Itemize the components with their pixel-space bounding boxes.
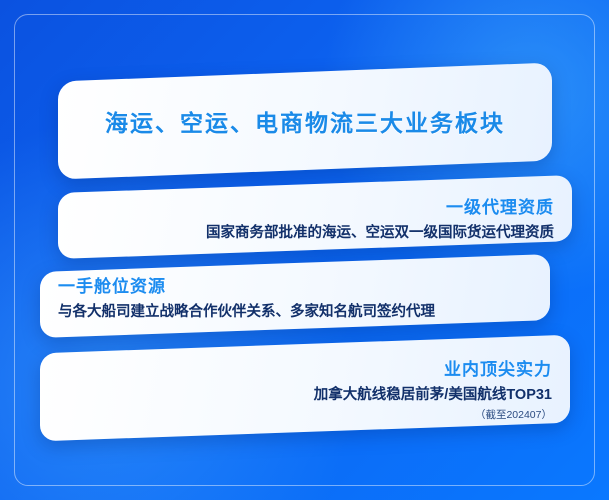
card-first-class-agency-title: 一级代理资质 <box>446 193 554 218</box>
card-first-hand-space: 一手舱位资源 与各大船司建立战略合作伙伴关系、多家知名航司签约代理 <box>40 254 550 338</box>
card-first-class-agency: 一级代理资质 国家商务部批准的海运、空运双一级国际货运代理资质 <box>58 175 572 259</box>
card-top-strength-title: 业内顶尖实力 <box>444 355 552 380</box>
card-first-hand-space-body: 与各大船司建立战略合作伙伴关系、多家知名航司签约代理 <box>58 300 435 321</box>
poster-canvas: 海运、空运、电商物流三大业务板块 一级代理资质 国家商务部批准的海运、空运双一级… <box>0 0 609 500</box>
cards-container: 海运、空运、电商物流三大业务板块 一级代理资质 国家商务部批准的海运、空运双一级… <box>0 0 609 500</box>
card-top-strength: 业内顶尖实力 加拿大航线稳居前茅/美国航线TOP31 （截至202407） <box>40 335 570 442</box>
card-top-strength-note: （截至202407） <box>475 407 552 422</box>
card-first-class-agency-body: 国家商务部批准的海运、空运双一级国际货运代理资质 <box>206 221 554 242</box>
card-headline-title: 海运、空运、电商物流三大业务板块 <box>105 104 505 138</box>
card-top-strength-body: 加拿大航线稳居前茅/美国航线TOP31 <box>314 383 552 404</box>
card-headline: 海运、空运、电商物流三大业务板块 <box>58 63 552 180</box>
card-first-hand-space-title: 一手舱位资源 <box>58 272 166 297</box>
